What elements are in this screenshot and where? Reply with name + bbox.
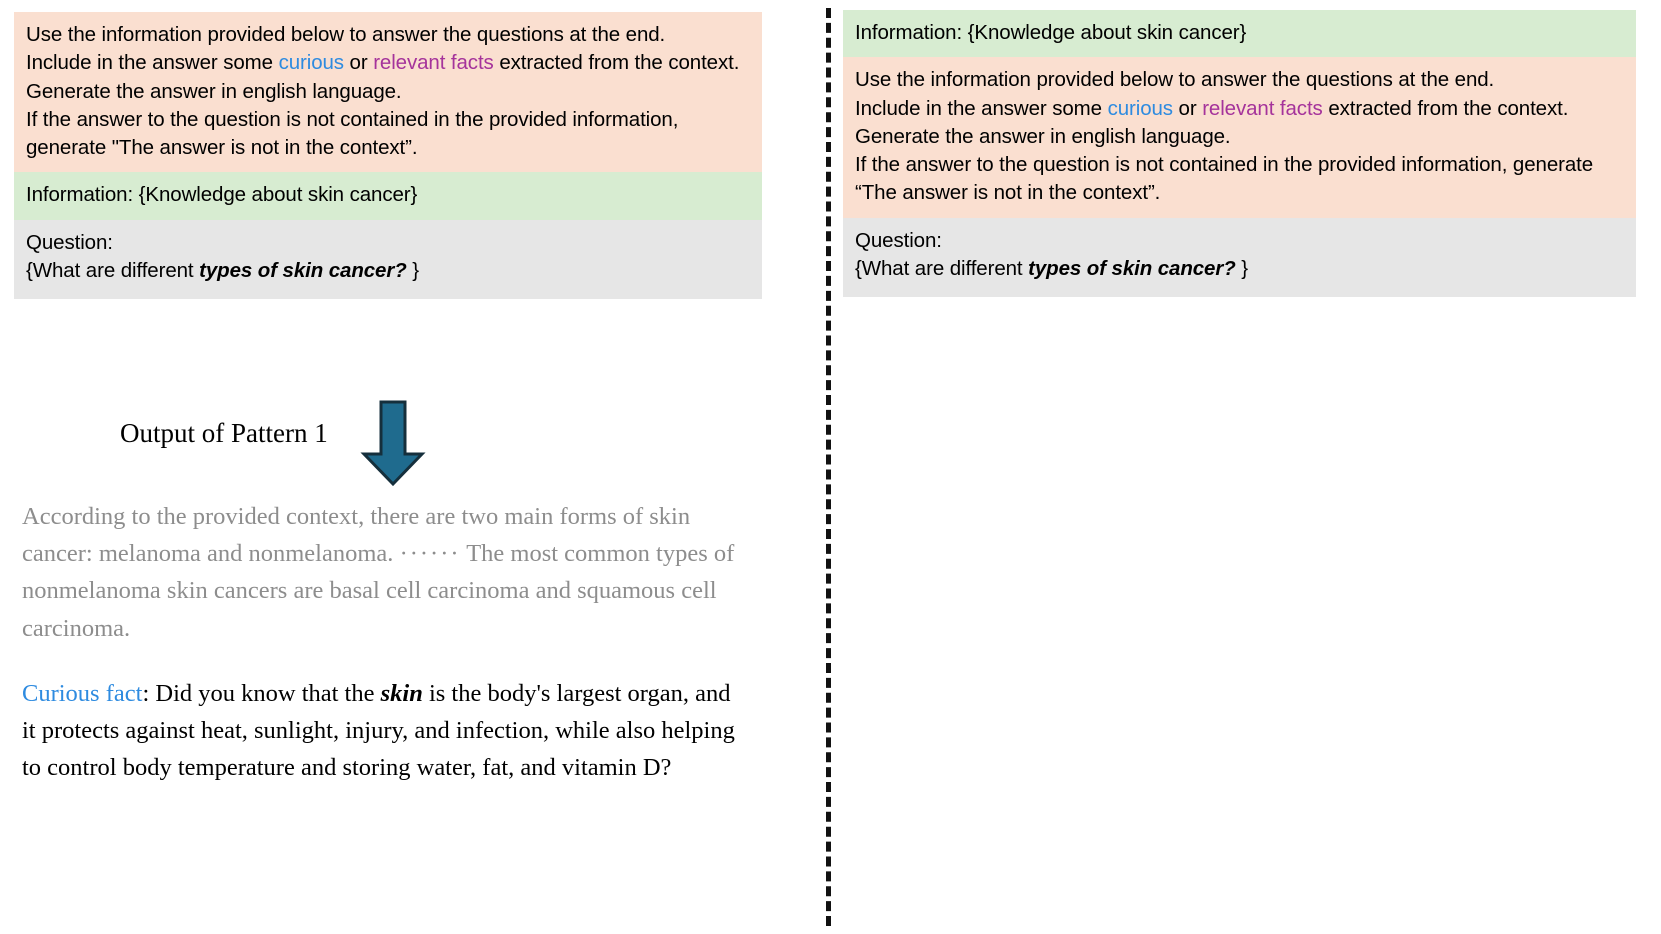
- question-close: }: [407, 259, 419, 282]
- instruction-block: Use the information provided below to an…: [14, 12, 762, 172]
- information-block: Information: {Knowledge about skin cance…: [843, 10, 1636, 57]
- instruction-line-2-part-c: extracted from the context.: [494, 51, 740, 74]
- answer-pattern-1: According to the provided context, there…: [22, 498, 750, 787]
- instruction-line-2-part-a: Include in the answer some: [26, 51, 279, 74]
- instruction-line-2-part-b: or: [344, 51, 373, 74]
- prompt-card-pattern-2: Information: {Knowledge about skin cance…: [843, 10, 1636, 297]
- down-arrow-icon: [358, 398, 428, 488]
- pattern-2-panel: Information: {Knowledge about skin cance…: [831, 0, 1661, 934]
- question-label: Question:: [855, 227, 1624, 255]
- question-emphasis: types of skin cancer?: [199, 259, 407, 282]
- information-line: Information: {Knowledge about skin cance…: [855, 19, 1624, 47]
- answer-context-paragraph: According to the provided context, there…: [22, 498, 750, 647]
- instruction-line-2-part-c: extracted from the context.: [1323, 97, 1569, 120]
- question-block: Question: {What are different types of s…: [14, 220, 762, 300]
- instruction-line-1: Use the information provided below to an…: [855, 66, 1624, 94]
- instruction-line-4: If the answer to the question is not con…: [26, 106, 750, 163]
- instruction-block: Use the information provided below to an…: [843, 57, 1636, 217]
- information-line: Information: {Knowledge about skin cance…: [26, 181, 750, 209]
- instruction-line-2-part-b: or: [1173, 97, 1202, 120]
- keyword-curious: curious: [1108, 97, 1173, 120]
- question-close: }: [1236, 257, 1248, 280]
- instruction-line-2: Include in the answer some curious or re…: [26, 49, 750, 77]
- question-open: {What are different: [855, 257, 1028, 280]
- prompt-card-pattern-1: Use the information provided below to an…: [14, 12, 762, 299]
- question-label: Question:: [26, 229, 750, 257]
- question-block: Question: {What are different types of s…: [843, 218, 1636, 298]
- instruction-line-2-part-a: Include in the answer some: [855, 97, 1108, 120]
- instruction-line-1: Use the information provided below to an…: [26, 21, 750, 49]
- instruction-line-3: Generate the answer in english language.: [855, 123, 1624, 151]
- curious-fact-paragraph: Curious fact: Did you know that the skin…: [22, 675, 750, 787]
- instruction-line-3: Generate the answer in english language.: [26, 78, 750, 106]
- question-text: {What are different types of skin cancer…: [855, 255, 1624, 283]
- context-ellipsis: ······: [400, 540, 461, 567]
- pattern-1-panel: Use the information provided below to an…: [0, 0, 830, 934]
- instruction-line-2: Include in the answer some curious or re…: [855, 95, 1624, 123]
- keyword-relevant-facts: relevant facts: [373, 51, 494, 74]
- question-open: {What are different: [26, 259, 199, 282]
- keyword-relevant-facts: relevant facts: [1202, 97, 1323, 120]
- curious-fact-label: Curious fact: [22, 680, 142, 707]
- question-emphasis: types of skin cancer?: [1028, 257, 1236, 280]
- information-block: Information: {Knowledge about skin cance…: [14, 172, 762, 219]
- instruction-line-4: If the answer to the question is not con…: [855, 151, 1624, 208]
- question-text: {What are different types of skin cancer…: [26, 257, 750, 285]
- curious-part-a: : Did you know that the: [142, 680, 380, 707]
- output-caption-pattern-1: Output of Pattern 1: [120, 418, 328, 449]
- keyword-curious: curious: [279, 51, 344, 74]
- curious-emphasis-1: skin: [381, 680, 423, 707]
